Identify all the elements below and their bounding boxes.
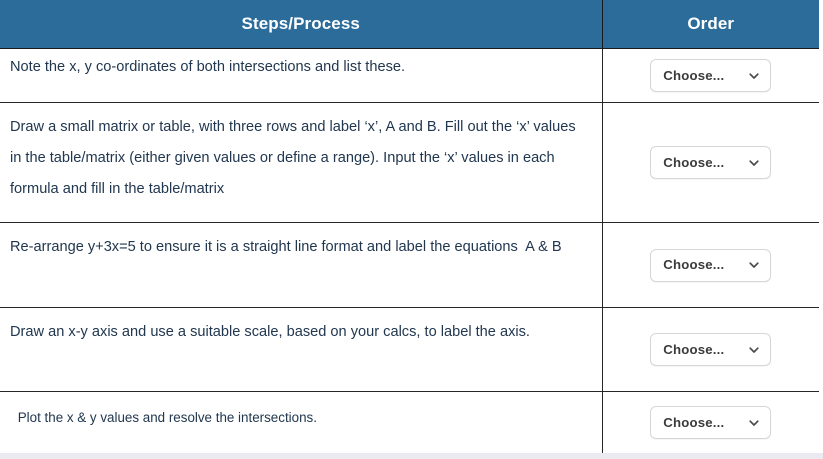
table-row: Draw a small matrix or table, with three… bbox=[0, 103, 819, 223]
order-dropdown-selected-value: Choose... bbox=[663, 69, 724, 82]
table-row: Draw an x-y axis and use a suitable scal… bbox=[0, 308, 819, 392]
steps-process-table: Steps/Process Order Note the x, y co-ord… bbox=[0, 0, 819, 454]
page-bottom-strip bbox=[0, 453, 823, 459]
step-description-cell: Plot the x & y values and resolve the in… bbox=[0, 392, 602, 454]
step-text: Note the x, y co-ordinates of both inter… bbox=[10, 59, 590, 77]
page-root: Steps/Process Order Note the x, y co-ord… bbox=[0, 0, 823, 459]
steps-process-table-container: Steps/Process Order Note the x, y co-ord… bbox=[0, 0, 819, 454]
table-header-row: Steps/Process Order bbox=[0, 0, 819, 49]
column-header-steps-process: Steps/Process bbox=[0, 0, 602, 49]
table-header: Steps/Process Order bbox=[0, 0, 819, 49]
order-select-cell: Choose... bbox=[602, 223, 819, 308]
table-row: Re-arrange y+3x=5 to ensure it is a stra… bbox=[0, 223, 819, 308]
order-dropdown-row-1[interactable]: Choose... bbox=[650, 59, 771, 92]
step-text: Plot the x & y values and resolve the in… bbox=[14, 410, 590, 426]
step-description-cell: Draw a small matrix or table, with three… bbox=[0, 103, 602, 223]
order-dropdown-row-5[interactable]: Choose... bbox=[650, 406, 771, 439]
order-dropdown-row-3[interactable]: Choose... bbox=[650, 249, 771, 282]
table-body: Note the x, y co-ordinates of both inter… bbox=[0, 49, 819, 454]
column-header-order: Order bbox=[602, 0, 819, 49]
step-text: Re-arrange y+3x=5 to ensure it is a stra… bbox=[10, 232, 590, 263]
chevron-down-icon bbox=[748, 157, 760, 169]
order-select-cell: Choose... bbox=[602, 392, 819, 454]
step-description-cell: Re-arrange y+3x=5 to ensure it is a stra… bbox=[0, 223, 602, 308]
chevron-down-icon bbox=[748, 344, 760, 356]
order-select-cell: Choose... bbox=[602, 308, 819, 392]
step-text: Draw a small matrix or table, with three… bbox=[10, 112, 590, 206]
step-text: Draw an x-y axis and use a suitable scal… bbox=[10, 317, 590, 348]
order-dropdown-selected-value: Choose... bbox=[663, 156, 724, 169]
step-description-cell: Draw an x-y axis and use a suitable scal… bbox=[0, 308, 602, 392]
chevron-down-icon bbox=[748, 417, 760, 429]
step-description-cell: Note the x, y co-ordinates of both inter… bbox=[0, 49, 602, 103]
order-dropdown-row-4[interactable]: Choose... bbox=[650, 333, 771, 366]
chevron-down-icon bbox=[748, 259, 760, 271]
order-select-cell: Choose... bbox=[602, 49, 819, 103]
order-dropdown-selected-value: Choose... bbox=[663, 343, 724, 356]
table-row: Plot the x & y values and resolve the in… bbox=[0, 392, 819, 454]
chevron-down-icon bbox=[748, 70, 760, 82]
order-dropdown-selected-value: Choose... bbox=[663, 258, 724, 271]
order-dropdown-selected-value: Choose... bbox=[663, 416, 724, 429]
order-select-cell: Choose... bbox=[602, 103, 819, 223]
table-row: Note the x, y co-ordinates of both inter… bbox=[0, 49, 819, 103]
order-dropdown-row-2[interactable]: Choose... bbox=[650, 146, 771, 179]
